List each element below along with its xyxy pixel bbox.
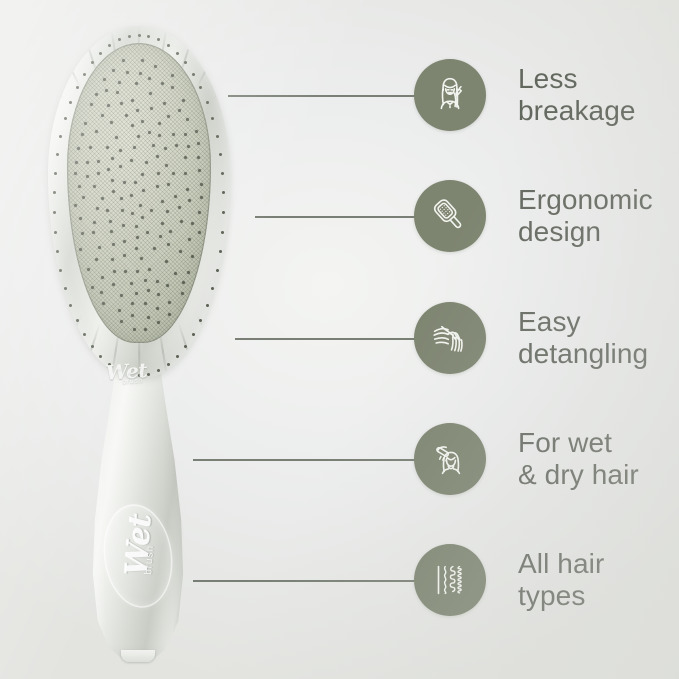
feature-all-hair-types[interactable]: All hair types: [414, 544, 604, 616]
leader-line-4: [193, 459, 418, 461]
neck-brand-logo: Wet brush: [105, 357, 161, 395]
brand-wordmark-brush: brush: [143, 545, 156, 576]
feature-icon-badge: [414, 59, 486, 131]
brush-head: [48, 26, 230, 378]
handle-tip-cap: [121, 650, 155, 662]
leader-line-5: [193, 580, 418, 582]
infographic-canvas: Wet brush Wet brush: [0, 0, 679, 679]
feature-label: Ergonomic design: [518, 184, 653, 249]
feature-ergonomic-design[interactable]: Ergonomic design: [414, 180, 653, 252]
product-image-wet-brush: Wet brush Wet brush: [28, 26, 248, 641]
neck-wordmark-brush: brush: [122, 377, 143, 385]
hand-combing-hair-icon: [427, 315, 473, 361]
feature-label: Less breakage: [518, 63, 636, 128]
feature-label: Easy detangling: [518, 306, 648, 371]
paddle-brush-icon: [427, 193, 473, 239]
feature-easy-detangling[interactable]: Easy detangling: [414, 302, 648, 374]
woman-brushing-hair-icon: [427, 72, 473, 118]
leader-line-1: [228, 95, 418, 97]
feature-icon-badge: [414, 302, 486, 374]
feature-icon-badge: [414, 423, 486, 495]
feature-icon-badge: [414, 180, 486, 252]
feature-less-breakage[interactable]: Less breakage: [414, 59, 636, 131]
feature-label: For wet & dry hair: [518, 427, 639, 492]
rim-bristle-dots: [48, 26, 230, 378]
feature-label: All hair types: [518, 548, 604, 613]
feature-icon-badge: [414, 544, 486, 616]
leader-line-3: [235, 338, 418, 340]
hair-textures-icon: [427, 557, 473, 603]
shower-head-hair-icon: [427, 436, 473, 482]
leader-line-2: [255, 216, 418, 218]
feature-wet-and-dry-hair[interactable]: For wet & dry hair: [414, 423, 639, 495]
